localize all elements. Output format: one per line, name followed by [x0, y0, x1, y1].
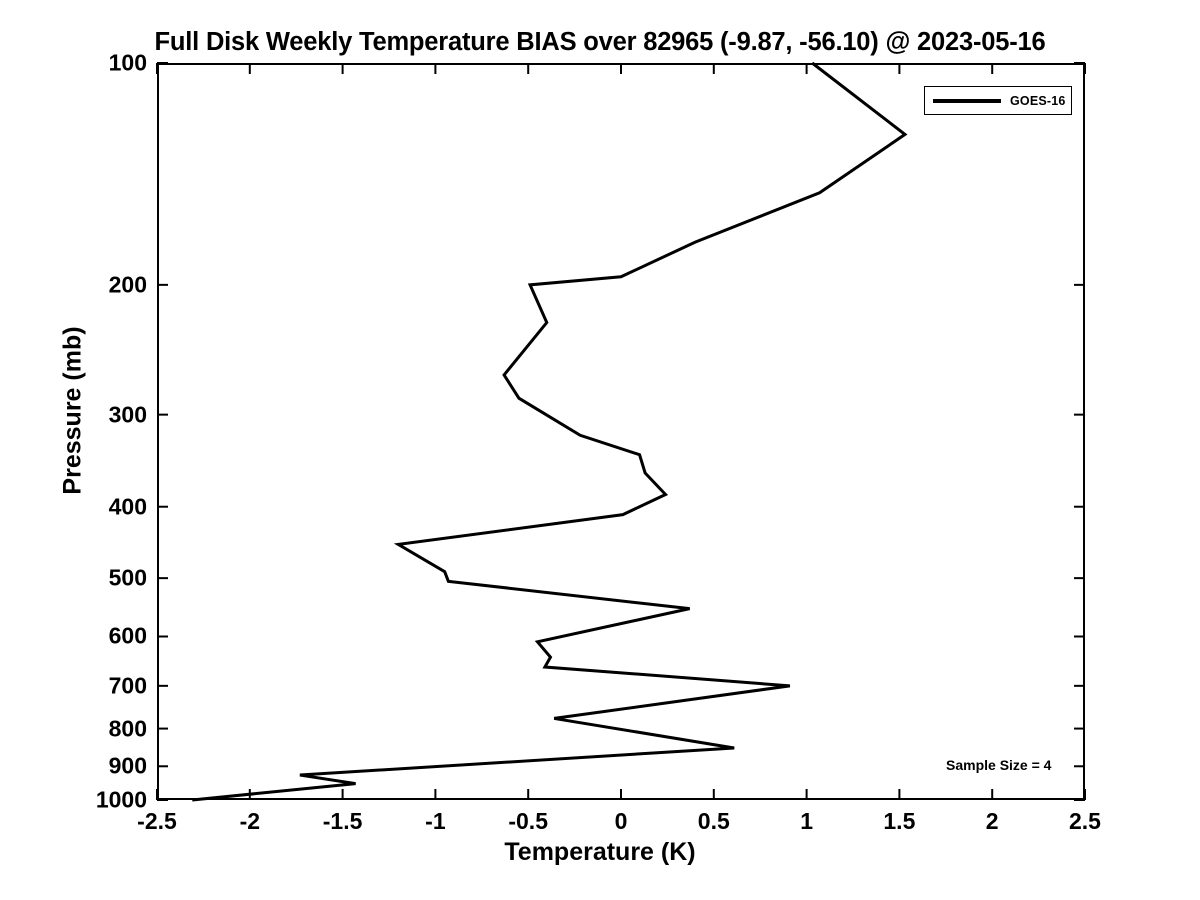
legend-label-goes-16: GOES-16: [1010, 94, 1066, 108]
sample-size-annotation: Sample Size = 4: [946, 757, 1051, 773]
y-tick-label-100: 100: [7, 50, 157, 77]
x-axis-title: Temperature (K): [0, 838, 1200, 867]
plot-area: [157, 63, 1085, 800]
chart-page: Full Disk Weekly Temperature BIAS over 8…: [0, 0, 1200, 900]
x-tick-label-2_5: 2.5: [1025, 808, 1145, 835]
y-tick-label-700: 700: [7, 672, 157, 699]
y-tick-label-900: 900: [7, 753, 157, 780]
y-tick-label-500: 500: [7, 565, 157, 592]
page-title: Full Disk Weekly Temperature BIAS over 8…: [0, 28, 1200, 57]
y-tick-label-600: 600: [7, 623, 157, 650]
y-axis-title: Pressure (mb): [59, 261, 88, 561]
y-tick-label-800: 800: [7, 715, 157, 742]
legend-swatch-goes-16: [933, 99, 1001, 103]
legend[interactable]: GOES-16: [924, 86, 1072, 115]
